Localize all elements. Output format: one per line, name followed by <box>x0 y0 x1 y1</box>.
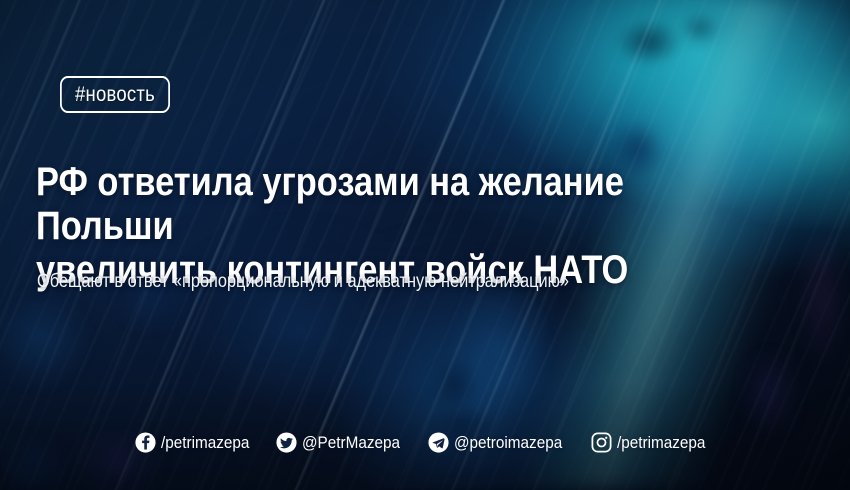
social-handle-twitter: @PetrMazepa <box>302 433 400 453</box>
category-badge: #новость <box>60 76 170 113</box>
twitter-icon <box>276 432 297 453</box>
news-card: #новость РФ ответила угрозами на желание… <box>0 0 850 490</box>
category-badge-label: #новость <box>75 83 155 107</box>
telegram-icon <box>428 432 449 453</box>
facebook-icon <box>135 432 156 453</box>
social-links-bar: /petrimazepa @PetrMazepa @petroimazepa <box>0 432 850 453</box>
instagram-icon <box>591 432 612 453</box>
subtitle: Обещают в ответ «пропорциональную и адек… <box>37 270 725 293</box>
social-handle-instagram: /petrimazepa <box>617 433 705 453</box>
social-handle-facebook: /petrimazepa <box>161 433 249 453</box>
social-link-telegram[interactable]: @petroimazepa <box>428 432 574 453</box>
social-handle-telegram: @petroimazepa <box>454 433 562 453</box>
social-link-facebook[interactable]: /petrimazepa <box>135 432 259 453</box>
social-link-twitter[interactable]: @PetrMazepa <box>276 432 411 453</box>
social-link-instagram[interactable]: /petrimazepa <box>591 432 715 453</box>
